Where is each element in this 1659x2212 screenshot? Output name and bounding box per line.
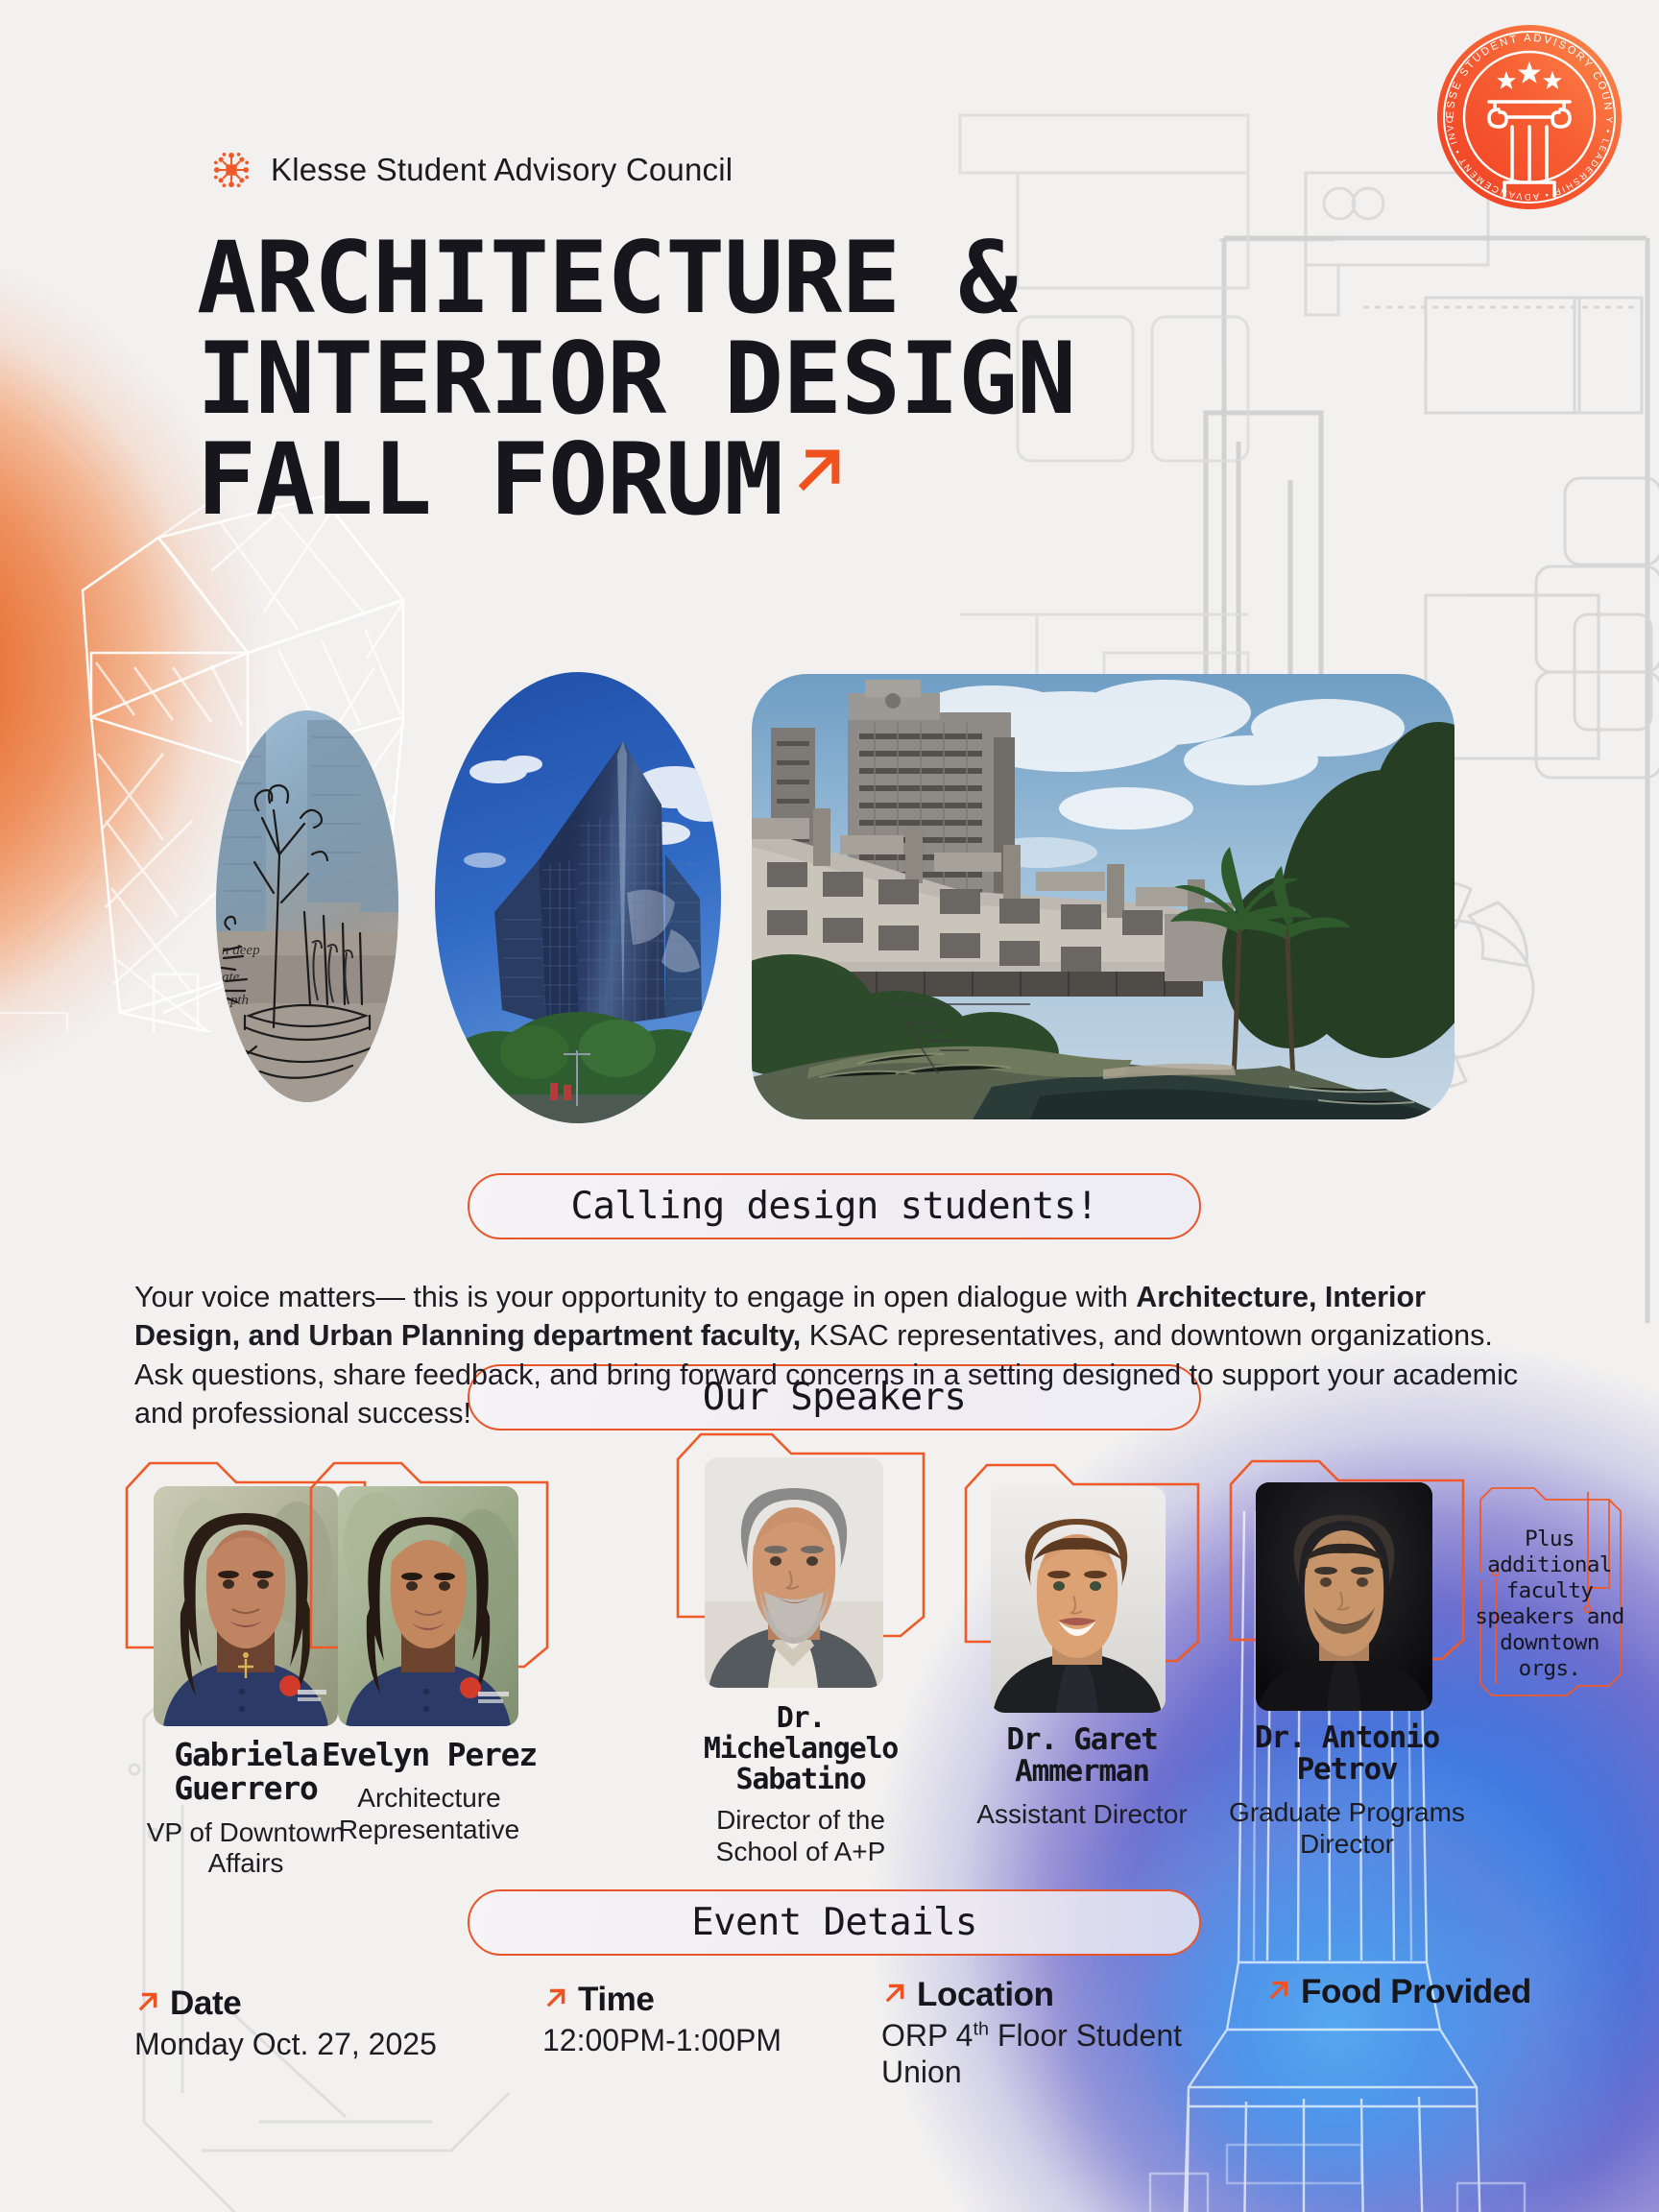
speaker-role: Assistant Director bbox=[960, 1799, 1204, 1830]
photo-collage: n deepatelepthn bbox=[216, 672, 1455, 1123]
headshot-michelangelo-sabatino bbox=[705, 1457, 883, 1688]
arrow-up-right-icon bbox=[134, 1989, 161, 2016]
intro-paragraph: Your voice matters— this is your opportu… bbox=[134, 1278, 1531, 1433]
title-line-2: INTERIOR DESIGN bbox=[197, 329, 1445, 430]
title-line-1: ARCHITECTURE & bbox=[197, 228, 1445, 329]
speaker-name: Dr. Garet Ammerman bbox=[960, 1724, 1204, 1788]
detail-label: Time bbox=[578, 1981, 654, 2019]
detail-label: Location bbox=[917, 1976, 1054, 2014]
speaker-role: Graduate Programs Director bbox=[1225, 1797, 1469, 1860]
speaker-card: Dr. Garet Ammerman Assistant Director bbox=[960, 1461, 1204, 1831]
svg-text:lepth: lepth bbox=[220, 993, 249, 1008]
riverwalk-photo bbox=[752, 674, 1455, 1119]
speaker-card: Dr. Michelangelo Sabatino Director of th… bbox=[672, 1431, 929, 1867]
detail-value: Monday Oct. 27, 2025 bbox=[134, 2027, 437, 2063]
location-ordinal: th bbox=[973, 2018, 989, 2039]
speaker-card: Evelyn Perez Architecture Representative bbox=[305, 1459, 553, 1845]
poster: Klesse Student Advisory Council KLESSE S… bbox=[0, 0, 1659, 2212]
detail-label: Food Provided bbox=[1301, 1973, 1531, 2011]
banner-calling-design-students: Calling design students! bbox=[468, 1173, 1201, 1239]
speaker-name: Dr. Antonio Petrov bbox=[1225, 1722, 1469, 1786]
arrow-up-right-icon bbox=[542, 1985, 569, 2012]
speaker-role: Director of the School of A+P bbox=[672, 1805, 929, 1867]
glass-tower-photo bbox=[435, 672, 721, 1123]
detail-date: Date Monday Oct. 27, 2025 bbox=[134, 1984, 437, 2063]
sunburst-icon bbox=[213, 152, 250, 188]
detail-food: Food Provided bbox=[1265, 1973, 1531, 2011]
arrow-up-right-icon bbox=[788, 442, 850, 503]
speaker-card: Dr. Antonio Petrov Graduate Programs Dir… bbox=[1225, 1457, 1469, 1860]
speaker-name: Evelyn Perez bbox=[305, 1738, 553, 1771]
photo-frame bbox=[305, 1459, 553, 1671]
photo-frame bbox=[672, 1431, 929, 1640]
event-details-row: Date Monday Oct. 27, 2025 Time 12:00PM-1… bbox=[0, 1973, 1659, 2127]
detail-label: Date bbox=[170, 1984, 241, 2023]
svg-text:n: n bbox=[224, 1014, 231, 1029]
headshot-antonio-petrov bbox=[1256, 1482, 1432, 1711]
title-line-3: FALL FORUM bbox=[197, 430, 782, 531]
speakers-row: Gabriela Guerrero VP of Downtown Affairs bbox=[0, 1440, 1659, 1901]
svg-text:n deep: n deep bbox=[222, 943, 260, 958]
plus-note-text: Plus additional faculty speakers and dow… bbox=[1473, 1527, 1626, 1682]
detail-time: Time 12:00PM-1:00PM bbox=[542, 1981, 781, 2059]
brand-name: Klesse Student Advisory Council bbox=[271, 152, 733, 188]
speaker-name: Dr. Michelangelo Sabatino bbox=[672, 1703, 929, 1795]
svg-text:ate: ate bbox=[222, 970, 240, 985]
arrow-up-right-icon bbox=[1265, 1978, 1292, 2005]
detail-value: 12:00PM-1:00PM bbox=[542, 2023, 781, 2059]
intro-part-1: Your voice matters— this is your opportu… bbox=[134, 1281, 1136, 1313]
plus-speakers-note: Plus additional faculty speakers and dow… bbox=[1467, 1477, 1632, 1707]
photo-frame bbox=[960, 1461, 1204, 1665]
arrow-up-right-icon bbox=[881, 1981, 908, 2008]
speaker-role: Architecture Representative bbox=[305, 1783, 553, 1845]
streetscape-sketch-overlay: n deepatelepthn bbox=[216, 710, 398, 1102]
ksac-seal-logo: KLESSE STUDENT ADVISORY COUNCIL ADVOCACY… bbox=[1433, 21, 1625, 213]
brand-row: Klesse Student Advisory Council bbox=[213, 152, 733, 188]
detail-location: Location ORP 4th Floor Student Union bbox=[881, 1976, 1227, 2091]
page-title: ARCHITECTURE & INTERIOR DESIGN FALL FORU… bbox=[197, 228, 1445, 531]
headshot-garet-ammerman bbox=[991, 1486, 1166, 1713]
detail-value: ORP 4th Floor Student Union bbox=[881, 2018, 1227, 2091]
photo-frame bbox=[1225, 1457, 1469, 1663]
headshot-evelyn-perez bbox=[338, 1486, 518, 1726]
location-pre: ORP 4 bbox=[881, 2018, 973, 2053]
